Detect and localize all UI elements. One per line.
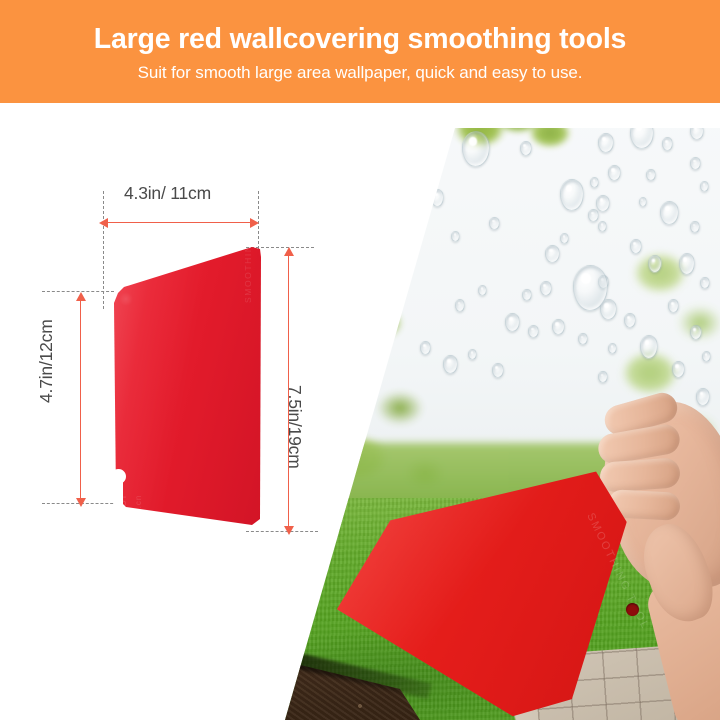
emboss-brand-text: CHANG HUI bbox=[118, 494, 129, 563]
arrowhead-height-right-bottom bbox=[284, 526, 294, 535]
arrowhead-height-left-top bbox=[76, 292, 86, 301]
dimension-label-height-left: 4.7in/12cm bbox=[36, 319, 57, 403]
dimension-line-width bbox=[106, 222, 256, 223]
arrowhead-width-left bbox=[99, 218, 108, 228]
dimension-label-width: 4.3in/ 11cm bbox=[124, 183, 211, 204]
header-banner: Large red wallcovering smoothing tools S… bbox=[0, 0, 720, 103]
arrowhead-height-right-top bbox=[284, 247, 294, 256]
banner-title: Large red wallcovering smoothing tools bbox=[94, 21, 626, 55]
dimension-line-height-left bbox=[80, 300, 81, 505]
product-infographic: Large red wallcovering smoothing tools S… bbox=[0, 0, 720, 720]
arrowhead-height-left-bottom bbox=[76, 498, 86, 507]
guide-line-bottom-right bbox=[246, 531, 318, 532]
dimension-label-height-right: 7.5in/19cm bbox=[284, 385, 305, 469]
dimension-diagram: CHANG HUI www.qdcm.cn SMOOTHING TOOL 4.3… bbox=[0, 103, 330, 720]
emboss-site-text: www.qdcm.cn bbox=[134, 495, 143, 555]
banner-subtitle: Suit for smooth large area wallpaper, qu… bbox=[138, 64, 583, 83]
arrowhead-width-right bbox=[250, 218, 259, 228]
